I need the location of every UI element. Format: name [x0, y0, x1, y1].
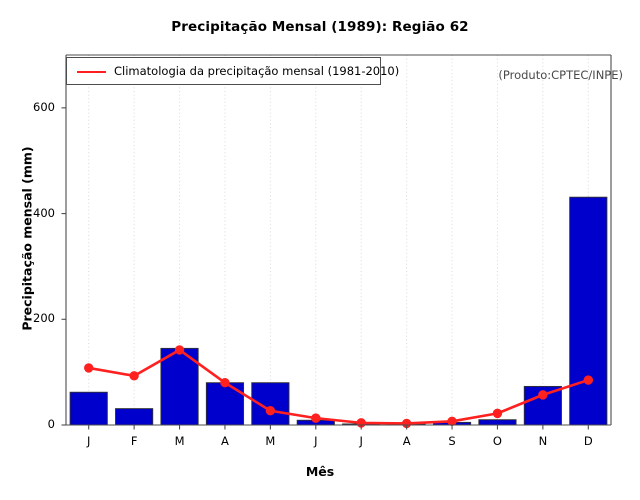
legend: Climatologia da precipitação mensal (198… [66, 57, 381, 85]
climatology-marker [85, 364, 93, 372]
x-tick-label: J [74, 434, 104, 448]
ticks-group [62, 108, 589, 430]
x-tick-label: F [119, 434, 149, 448]
climatology-marker [312, 414, 320, 422]
bar [206, 383, 243, 425]
climatology-marker [584, 376, 592, 384]
climatology-marker [175, 346, 183, 354]
bars-group [70, 197, 607, 425]
x-tick-label: D [573, 434, 603, 448]
product-annotation: (Produto:CPTEC/INPE) [498, 68, 623, 82]
x-tick-label: M [255, 434, 285, 448]
x-tick-label: A [392, 434, 422, 448]
climatology-marker [221, 379, 229, 387]
x-tick-label: J [346, 434, 376, 448]
legend-line-swatch [77, 71, 106, 73]
y-tick-label: 200 [15, 311, 55, 325]
x-tick-label: S [437, 434, 467, 448]
chart-figure: Precipitação Mensal (1989): Região 62 Pr… [0, 0, 640, 500]
bar [116, 409, 153, 425]
climatology-marker [266, 407, 274, 415]
climatology-marker [539, 391, 547, 399]
bar [570, 197, 607, 425]
x-tick-label: N [528, 434, 558, 448]
climatology-marker [130, 372, 138, 380]
y-tick-label: 600 [15, 100, 55, 114]
x-tick-label: O [482, 434, 512, 448]
legend-label-climatology: Climatologia da precipitação mensal (198… [114, 64, 399, 78]
x-tick-label: A [210, 434, 240, 448]
bar [70, 392, 107, 425]
climatology-marker [493, 409, 501, 417]
x-tick-label: M [165, 434, 195, 448]
y-tick-label: 400 [15, 206, 55, 220]
x-tick-label: J [301, 434, 331, 448]
bar [479, 420, 516, 425]
climatology-marker [448, 417, 456, 425]
y-tick-label: 0 [15, 417, 55, 431]
